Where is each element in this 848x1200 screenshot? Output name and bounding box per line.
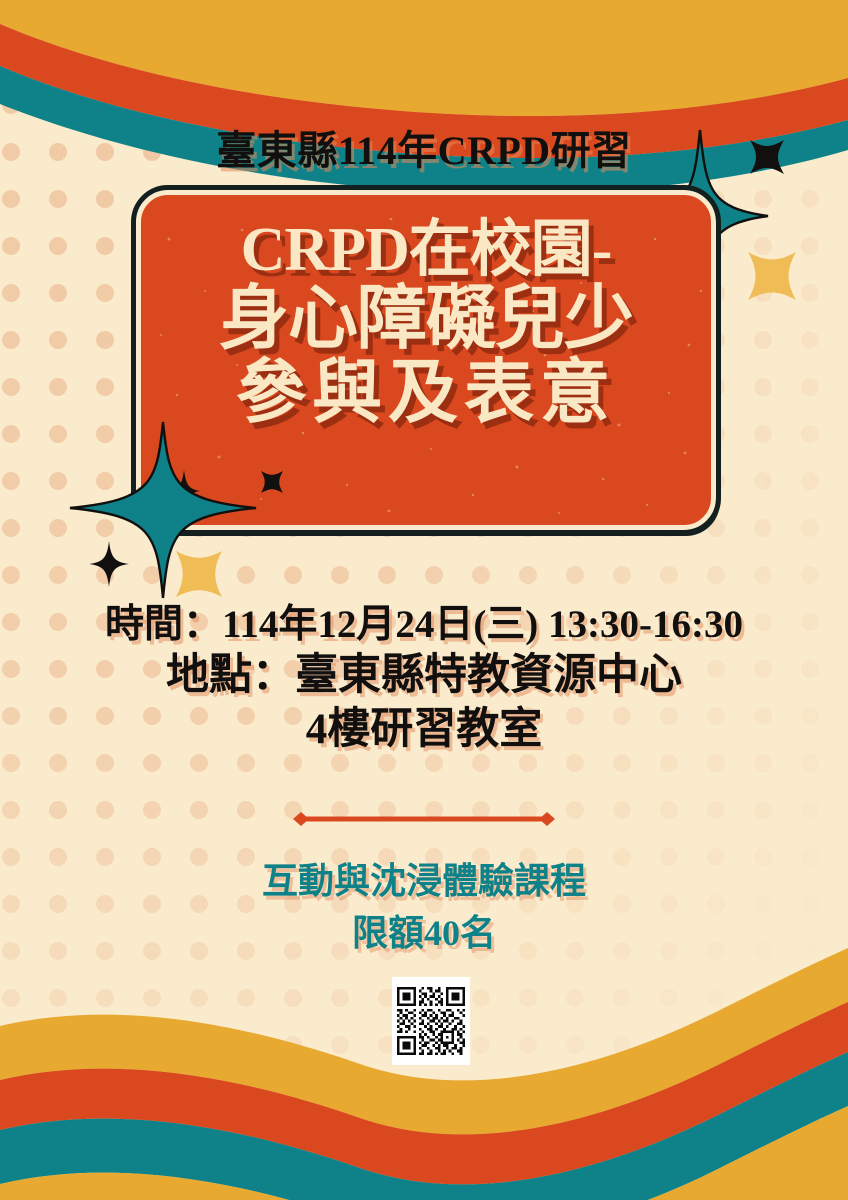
course-note-line-2: 限額40名 (0, 907, 848, 959)
card-title-line-1: CRPD在校園- (141, 219, 711, 282)
squircle-diamond-yellow-right-icon (740, 244, 804, 308)
event-time-line: 時間：114年12月24日(三) 13:30-16:30 (0, 600, 848, 649)
squircle-diamond-yellow-lower-left-icon (168, 543, 230, 605)
top-wave-band (0, 0, 848, 220)
poster-eyebrow-title: 臺東縣114年CRPD研習 (0, 118, 848, 176)
diamond-rule-divider (288, 811, 560, 827)
course-note-line-1: 互動與沈浸體驗課程 (0, 855, 848, 907)
card-title-block: CRPD在校園- 身心障礙兒少 參與及表意 (141, 219, 711, 429)
four-point-star-black-lower-left-icon (88, 540, 130, 588)
event-venue-line: 地點：臺東縣特教資源中心 (0, 649, 848, 703)
qr-code[interactable] (392, 977, 470, 1065)
event-room-line: 4樓研習教室 (0, 703, 848, 757)
card-title-line-2: 身心障礙兒少 (141, 284, 711, 355)
card-body: CRPD在校園- 身心障礙兒少 參與及表意 (136, 190, 716, 530)
event-info-block: 時間：114年12月24日(三) 13:30-16:30 地點：臺東縣特教資源中… (0, 600, 848, 757)
course-notes-block: 互動與沈浸體驗課程 限額40名 (0, 855, 848, 959)
poster-canvas: 臺東縣114年CRPD研習 (0, 0, 848, 1200)
main-title-card: CRPD在校園- 身心障礙兒少 參與及表意 (136, 190, 716, 530)
card-title-line-3: 參與及表意 (141, 358, 711, 429)
